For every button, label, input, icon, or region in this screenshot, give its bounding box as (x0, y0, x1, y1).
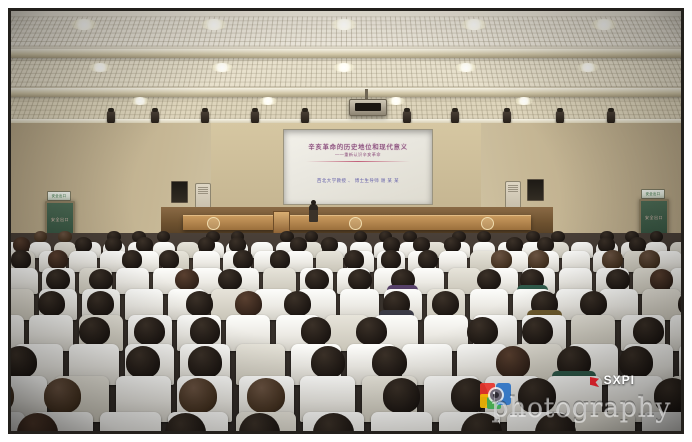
ceiling-downlight (201, 19, 227, 30)
exit-sign-left-label: 安全出口 (48, 192, 70, 200)
exit-sign-right-label: 安全出口 (642, 190, 664, 198)
audience-member (444, 237, 461, 252)
auditorium-seat (100, 412, 161, 431)
audience-member (105, 237, 122, 252)
auditorium-seat (371, 412, 432, 431)
ceiling-downlight (331, 19, 357, 30)
wall-speaker-left (171, 181, 188, 203)
ceiling-downlight (89, 63, 111, 72)
ceiling-downlight (591, 19, 617, 30)
audience-member (89, 269, 113, 291)
audience-member (218, 269, 242, 291)
ceiling-downlight (333, 63, 355, 72)
ceiling-downlight (461, 19, 487, 30)
audience-member (477, 231, 491, 242)
audience-member (44, 378, 82, 414)
audience-member (372, 346, 406, 378)
audience-member (34, 231, 48, 242)
audience-member (126, 346, 160, 378)
audience-member (467, 317, 498, 346)
projection-screen: 辛亥革命的历史地位和现代意义 ——重新认识辛亥革命 西北大学教授 、 博士生导师… (283, 129, 433, 205)
slide-subtitle: ——重新认识辛亥革命 (290, 152, 426, 158)
audience-member (602, 250, 622, 268)
audience-member (633, 317, 664, 346)
audience-member (639, 250, 659, 268)
audience-member (75, 237, 92, 252)
audience-member (321, 237, 338, 252)
ceiling-downlight (259, 97, 277, 105)
audience-member (418, 250, 438, 268)
audience-member (235, 291, 262, 316)
audience-member (580, 291, 607, 316)
speaker-presenter (309, 204, 318, 222)
audience-member (528, 250, 548, 268)
audience-member (179, 378, 217, 414)
audience-member (175, 269, 199, 291)
audience-member (233, 250, 253, 268)
audience-member (383, 378, 421, 414)
audience-member (190, 317, 221, 346)
exit-sign-left: 安全出口 (47, 191, 71, 201)
audience-member (650, 231, 664, 242)
ceiling-downlight (131, 97, 149, 105)
audience-member (348, 269, 372, 291)
ceiling-downlight (455, 63, 477, 72)
audience-member (305, 269, 329, 291)
watermark: SXPI photography (479, 367, 671, 425)
slide-presenter-line: 西北大学教授 、 博士生导师 谢 某 某 (290, 178, 426, 184)
ceiling-downlight (515, 97, 533, 105)
ceiling-downlight (211, 63, 233, 72)
audience-member (159, 250, 179, 268)
exit-sign-right: 安全出口 (641, 189, 665, 199)
audience-member (79, 317, 110, 346)
audience-member (136, 237, 153, 252)
photo-frame: 辛亥革命的历史地位和现代意义 ——重新认识辛亥革命 西北大学教授 、 博士生导师… (8, 8, 684, 434)
ceiling-downlight (577, 63, 599, 72)
audience-member (247, 378, 285, 414)
ceiling-downlight (387, 97, 405, 105)
ceiling-downlight (71, 19, 97, 30)
ceiling-panel-row-2 (11, 58, 681, 87)
table-emblem-2 (349, 217, 362, 230)
audience-member (344, 250, 364, 268)
audience-member (122, 250, 142, 268)
audience-member (198, 237, 215, 252)
audience-member (134, 317, 165, 346)
slide-divider (306, 161, 410, 162)
audience-member (186, 291, 213, 316)
exit-door-right-label: 安全出口 (641, 215, 667, 221)
ceiling-projector (349, 99, 387, 116)
audience-member (629, 237, 646, 252)
audience-member (11, 250, 31, 268)
audience-member (290, 237, 307, 252)
exit-door-left-label: 安全出口 (47, 217, 73, 223)
audience-member (48, 250, 68, 268)
audience-member (506, 237, 523, 252)
table-emblem-3 (481, 217, 494, 230)
audience-member (491, 250, 511, 268)
auditorium-photograph: 辛亥革命的历史地位和现代意义 ——重新认识辛亥革命 西北大学教授 、 博士生导师… (11, 11, 681, 431)
audience-member (606, 269, 630, 291)
audience-member (58, 231, 72, 242)
ceiling-beam-1 (11, 49, 681, 58)
ceiling-beam-2 (11, 88, 681, 97)
audience-member (157, 231, 171, 242)
audience-member (477, 269, 501, 291)
audience-member (381, 250, 401, 268)
table-emblem-1 (207, 217, 220, 230)
wall-speaker-right (527, 179, 544, 201)
audience-member (311, 346, 345, 378)
audience-member (38, 291, 65, 316)
audience-member (87, 291, 114, 316)
audience-member (432, 291, 459, 316)
audience-member (188, 346, 222, 378)
sxpi-logo-mark (590, 377, 599, 387)
audience-member (354, 231, 368, 242)
audience-member (356, 317, 387, 346)
slide-title: 辛亥革命的历史地位和现代意义 (290, 141, 426, 151)
audience-member (284, 291, 311, 316)
audience-member (270, 250, 290, 268)
audience-member (305, 231, 319, 242)
watermark-brand: SXPI (604, 373, 635, 387)
audience-member (46, 269, 70, 291)
audience-member (650, 269, 674, 291)
watermark-tagline: photography (491, 394, 671, 421)
audience-member (522, 317, 553, 346)
audience-member (301, 317, 332, 346)
